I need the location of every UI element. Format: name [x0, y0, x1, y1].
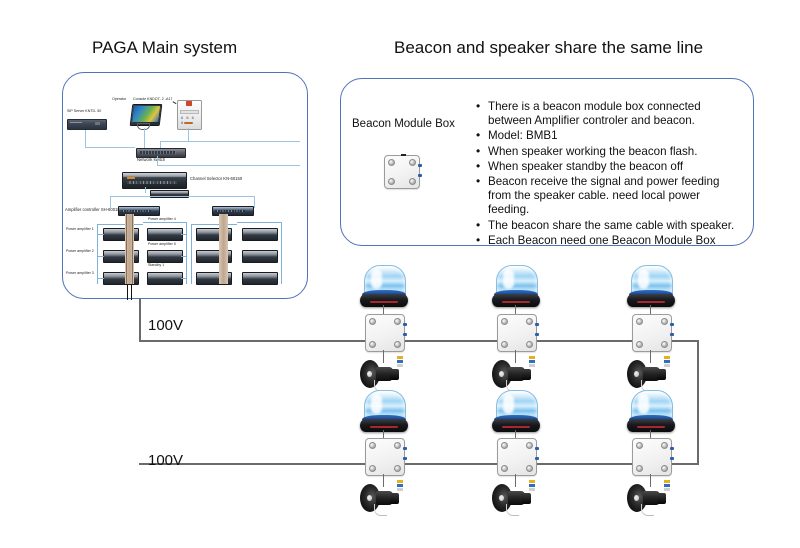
module-box-connector-2 [403, 457, 407, 460]
beacon-notes-ul: There is a beacon module box connected b… [474, 100, 742, 248]
module-box-screw-br [394, 341, 401, 348]
power-amp-device-5 [147, 250, 183, 263]
module-box-screw-br [661, 341, 668, 348]
cable-bundle-right [219, 214, 228, 284]
power-amp-1-label: Power amplifier 1 [66, 228, 94, 232]
module-box-screw-tl [501, 318, 508, 325]
cable-strand-a [126, 214, 127, 284]
terminal-c [664, 364, 670, 367]
module-box-screw-tr [526, 318, 533, 325]
sip-server-detail [70, 122, 82, 123]
module-box-screw-br [409, 178, 416, 185]
module-box-connector-2 [535, 457, 539, 460]
module-box-screw-tl [636, 318, 643, 325]
module-box-screw-tr [394, 318, 401, 325]
standby-amp-device-2 [242, 272, 278, 285]
amplifier-controller-label: Amplifier controller SH-6001M [65, 208, 121, 213]
bus-line-2-horizontal [139, 463, 699, 465]
speaker-terminal-icon [397, 356, 403, 370]
sip-server-device [67, 119, 107, 130]
console-screen [132, 106, 160, 122]
module-box-screw-tr [394, 442, 401, 449]
module-box-screw-br [394, 465, 401, 472]
beacon-module-box [497, 438, 537, 476]
beacon-strobe [625, 390, 677, 434]
module-box-connector-1 [535, 447, 539, 450]
standby-1-label: Standby 1 [148, 264, 164, 268]
terminal-a [664, 480, 670, 483]
horn-speaker [360, 482, 406, 516]
sip-server-label: SIP Server KNTD- 50 [67, 110, 101, 114]
trunk-cable-1 [127, 284, 128, 300]
speaker-driver [522, 493, 531, 504]
sip-server-badge [95, 122, 100, 125]
wire-bus-right-drop [254, 196, 255, 208]
module-box-connector-2 [403, 333, 407, 336]
wire-bus-top-drop [160, 141, 161, 148]
speaker-driver [390, 493, 399, 504]
list-item: When speaker standby the beacon off [488, 160, 742, 174]
power-amp-device-9 [242, 228, 278, 241]
power-amp-device-10 [242, 250, 278, 263]
call-station-display [180, 110, 199, 114]
module-box-screw-tl [501, 442, 508, 449]
speaker-driver [522, 369, 531, 380]
wire-standby-feed [181, 278, 187, 279]
module-box-screw-br [526, 465, 533, 472]
wire-right-rack-top [191, 224, 237, 225]
beacon-strobe [490, 265, 542, 309]
network-switch-ports [140, 151, 176, 154]
module-box-screw-bl [369, 341, 376, 348]
list-item: Each Beacon need one Beacon Module Box [488, 234, 742, 248]
speaker-terminal-icon [664, 480, 670, 494]
wire-amp2-feed [97, 256, 104, 257]
terminal-c [529, 488, 535, 491]
wire-amp4-feed [181, 234, 187, 235]
terminal-c [397, 364, 403, 367]
module-box-connector-2 [535, 333, 539, 336]
beacon-brand-stripe [502, 301, 530, 303]
channel-selector-ports [127, 181, 177, 184]
beacon-brand-stripe [637, 301, 665, 303]
speaker-driver [657, 369, 666, 380]
module-box-screw-bl [388, 178, 395, 185]
voltage-label-1: 100V [148, 317, 183, 334]
wire-amp3-feed [97, 278, 104, 279]
beacon-module-box [365, 314, 405, 352]
speaker-bracket [506, 504, 519, 516]
beacon-strobe [490, 390, 542, 434]
list-item: Model: BMB1 [488, 129, 742, 143]
terminal-c [664, 488, 670, 491]
speaker-driver [657, 493, 666, 504]
terminal-b [529, 360, 535, 363]
channel-selector-led [127, 177, 135, 179]
horn-speaker [627, 358, 673, 392]
module-box-connector-1 [670, 323, 674, 326]
speaker-terminal-icon [529, 356, 535, 370]
module-box-screw-br [526, 341, 533, 348]
beacon-strobe [625, 265, 677, 309]
module-box-screw-tr [661, 442, 668, 449]
wire-right-rack-v [191, 224, 192, 284]
call-station-indicator [186, 101, 192, 106]
trunk-cable-2 [131, 284, 132, 300]
module-box-screw-bl [636, 465, 643, 472]
module-box-screw-br [661, 465, 668, 472]
wire-right-col-v [186, 222, 187, 284]
module-box-cable-gland [401, 154, 406, 157]
wire-amp1-feed [97, 234, 104, 235]
controller-right-ports [215, 210, 245, 212]
wire-switch-right [157, 165, 300, 166]
wire-left-rack-v [97, 224, 98, 284]
wire-right-far-top [237, 222, 281, 223]
module-box-connector-1 [418, 164, 422, 167]
speaker-terminal-icon [529, 480, 535, 494]
module-box-connector-1 [535, 323, 539, 326]
terminal-b [397, 484, 403, 487]
module-box-screw-bl [369, 465, 376, 472]
terminal-a [397, 356, 403, 359]
call-station-keypad: 6 6 6 6 [181, 115, 195, 119]
module-box-connector-1 [403, 323, 407, 326]
beacon-strobe [358, 265, 410, 309]
controller-left-ports [121, 210, 151, 212]
wire-selector-down [145, 187, 146, 193]
speaker-bracket [641, 504, 654, 516]
beacon-module-box [632, 438, 672, 476]
terminal-a [529, 356, 535, 359]
module-box-screw-tl [388, 159, 395, 166]
module-box-screw-tl [369, 318, 376, 325]
module-box-connector-2 [670, 457, 674, 460]
power-amp-2-label: Power amplifier 2 [66, 250, 94, 254]
speaker-driver [390, 369, 399, 380]
list-item: There is a beacon module box connected b… [488, 100, 742, 128]
terminal-c [397, 488, 403, 491]
wire-station-to-switch-v [188, 128, 189, 141]
module-box-screw-tl [369, 442, 376, 449]
power-amp-5-label: Power amplifier 5 [148, 243, 176, 247]
module-box-screw-tr [409, 159, 416, 166]
wire-sip-to-switch-v [85, 130, 86, 148]
module-box-connector-1 [403, 447, 407, 450]
module-box-screw-tr [661, 318, 668, 325]
module-box-connector-2 [670, 333, 674, 336]
call-station-logo [184, 122, 193, 124]
terminal-c [529, 364, 535, 367]
beacon-brand-stripe [370, 426, 398, 428]
beacon-module-box [365, 438, 405, 476]
page-title-paga: PAGA Main system [92, 38, 237, 58]
horn-speaker [627, 482, 673, 516]
terminal-a [529, 480, 535, 483]
wire-left-rack-top [97, 224, 143, 225]
bus-line-1-riser [139, 298, 141, 342]
terminal-a [397, 480, 403, 483]
wire-console-to-switch [144, 128, 145, 148]
beacon-module-box [632, 314, 672, 352]
module-box-screw-bl [501, 341, 508, 348]
beacon-module-box [497, 314, 537, 352]
terminal-b [664, 484, 670, 487]
speaker-terminal-icon [664, 356, 670, 370]
console-label: Console KNDOT- 2 -A17 [133, 98, 172, 102]
bus-line-1-horizontal [139, 340, 699, 342]
beacon-brand-stripe [637, 426, 665, 428]
wire-right-col-top [143, 222, 187, 223]
module-box-connector-1 [670, 447, 674, 450]
beacon-brand-stripe [502, 426, 530, 428]
power-amp-3-label: Power amplifier 3 [66, 272, 94, 276]
module-box-screw-tr [526, 442, 533, 449]
beacon-strobe [358, 390, 410, 434]
channel-selector-label: Channel Selector KN-60150 [190, 177, 242, 182]
cable-strand-b [132, 214, 133, 284]
list-item: Beacon receive the signal and power feed… [488, 175, 742, 218]
module-box-connector-2 [418, 174, 422, 177]
operator-label: Operator [112, 98, 126, 102]
wire-selector-bus [110, 196, 255, 197]
terminal-b [529, 484, 535, 487]
voltage-label-2: 100V [148, 452, 183, 469]
speaker-bracket [374, 504, 387, 516]
list-item: The beacon share the same cable with spe… [488, 219, 742, 233]
wire-right-far-v [281, 222, 282, 284]
wire-amp5-feed [181, 256, 187, 257]
wire-bus-top [160, 141, 300, 142]
terminal-b [664, 360, 670, 363]
beacon-module-box-illustration [384, 155, 418, 189]
page-title-beacon: Beacon and speaker share the same line [394, 38, 703, 58]
horn-speaker [492, 482, 538, 516]
horn-speaker [492, 358, 538, 392]
terminal-b [397, 360, 403, 363]
horn-speaker [360, 358, 406, 392]
list-item: When speaker working the beacon flash. [488, 145, 742, 159]
bus-line-right-riser [697, 340, 699, 465]
module-box-screw-tl [636, 442, 643, 449]
standby-amp-device-1 [147, 272, 183, 285]
module-box-screw-bl [501, 465, 508, 472]
wire-sip-to-switch-h [85, 147, 135, 148]
beacon-notes-list: There is a beacon module box connected b… [474, 100, 742, 249]
terminal-a [664, 356, 670, 359]
power-amp-device-4 [147, 228, 183, 241]
beacon-module-box-label: Beacon Module Box [352, 118, 455, 130]
beacon-brand-stripe [370, 301, 398, 303]
network-switch-label: Network switch [137, 158, 165, 163]
speaker-terminal-icon [397, 480, 403, 494]
module-box-shell [384, 155, 420, 189]
module-box-screw-bl [636, 341, 643, 348]
